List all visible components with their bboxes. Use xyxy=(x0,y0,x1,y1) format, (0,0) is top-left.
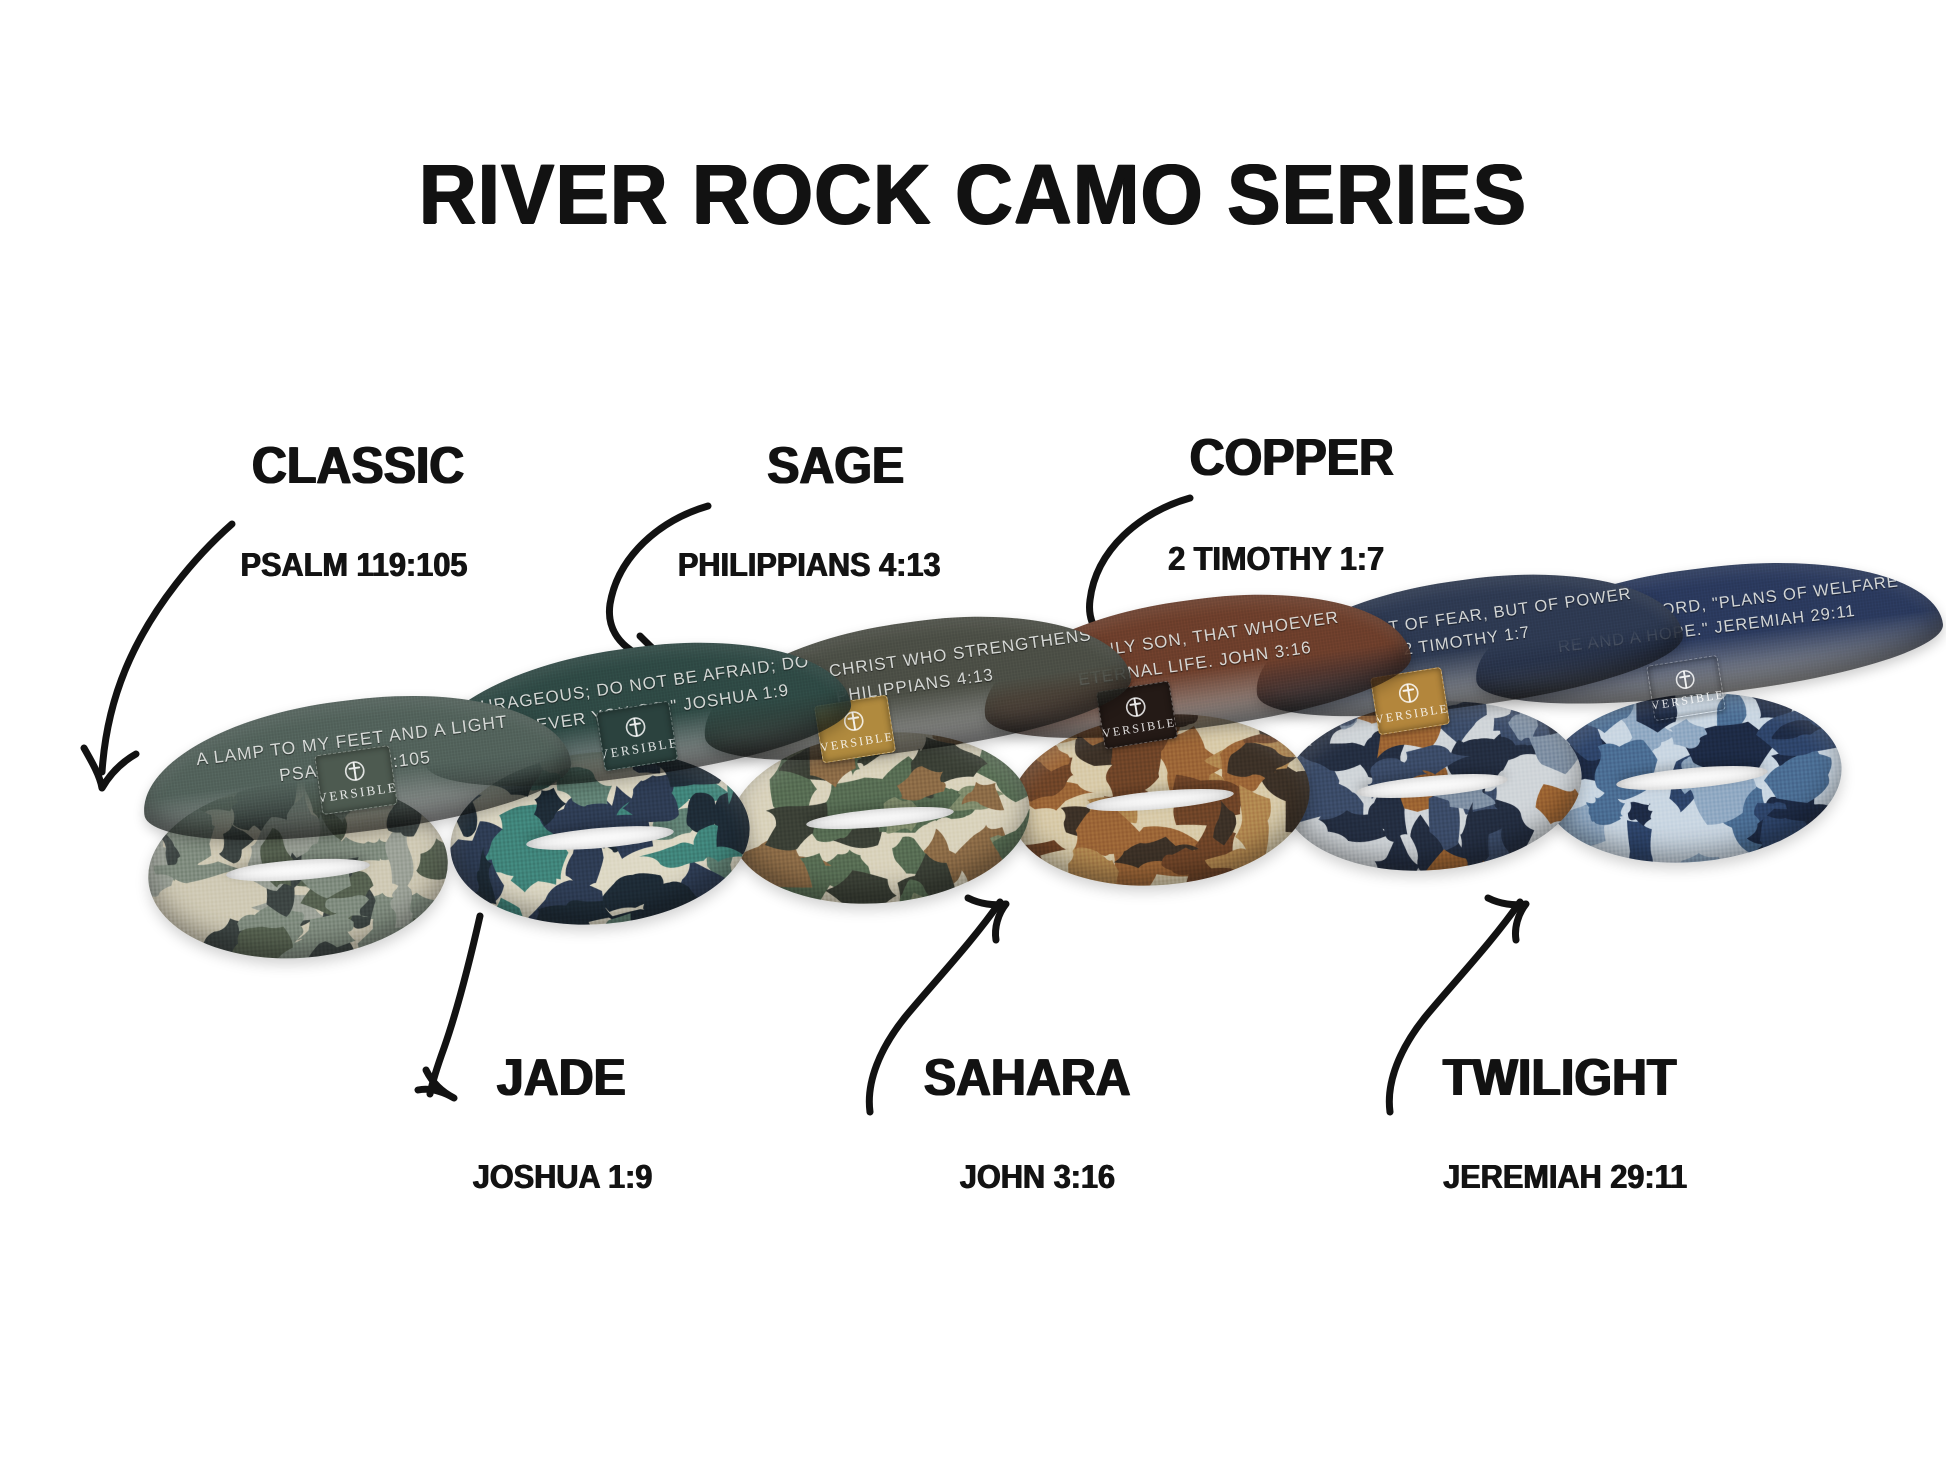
infographic-canvas: RIVER ROCK CAMO SERIES A LAMP TO MY FEET… xyxy=(0,0,1946,1460)
bracelet-classic[interactable]: A LAMP TO MY FEET AND A LIGHTPSALMS 119:… xyxy=(0,0,1946,1460)
cross-in-circle-icon xyxy=(341,758,368,785)
brand-tag-label: VERSIBLE xyxy=(317,779,398,806)
brand-tag: VERSIBLE xyxy=(314,745,398,815)
